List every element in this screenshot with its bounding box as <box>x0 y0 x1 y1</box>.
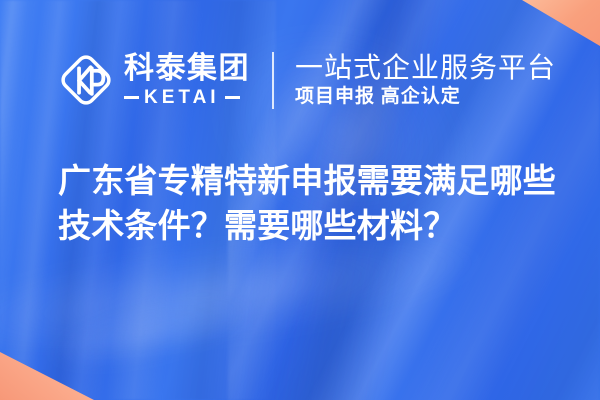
headline-line-1: 广东省专精特新申报需要满足哪些 <box>58 158 558 203</box>
tagline-secondary: 项目申报 高企认定 <box>295 86 556 108</box>
dash-left-icon <box>124 96 139 99</box>
brand-wordmark: 科泰集团 KETAI <box>124 53 250 108</box>
vertical-divider <box>272 52 274 109</box>
brand-name-en-row: KETAI <box>124 88 250 108</box>
promo-banner: 科泰集团 KETAI 一站式企业服务平台 项目申报 高企认定 广东省专精特新申报… <box>0 0 600 400</box>
tagline-block: 一站式企业服务平台 项目申报 高企认定 <box>295 52 556 108</box>
brand-name-cn: 科泰集团 <box>124 53 250 85</box>
banner-header: 科泰集团 KETAI 一站式企业服务平台 项目申报 高企认定 <box>0 42 600 118</box>
brand-logo: 科泰集团 KETAI <box>57 51 250 109</box>
ketai-diamond-kd-logo-icon <box>57 51 115 109</box>
headline-block: 广东省专精特新申报需要满足哪些 技术条件？需要哪些材料？ <box>58 158 558 248</box>
headline-line-2: 技术条件？需要哪些材料？ <box>58 203 558 248</box>
brand-name-en: KETAI <box>144 88 220 108</box>
dash-right-icon <box>225 96 240 99</box>
tagline-primary: 一站式企业服务平台 <box>295 52 556 84</box>
